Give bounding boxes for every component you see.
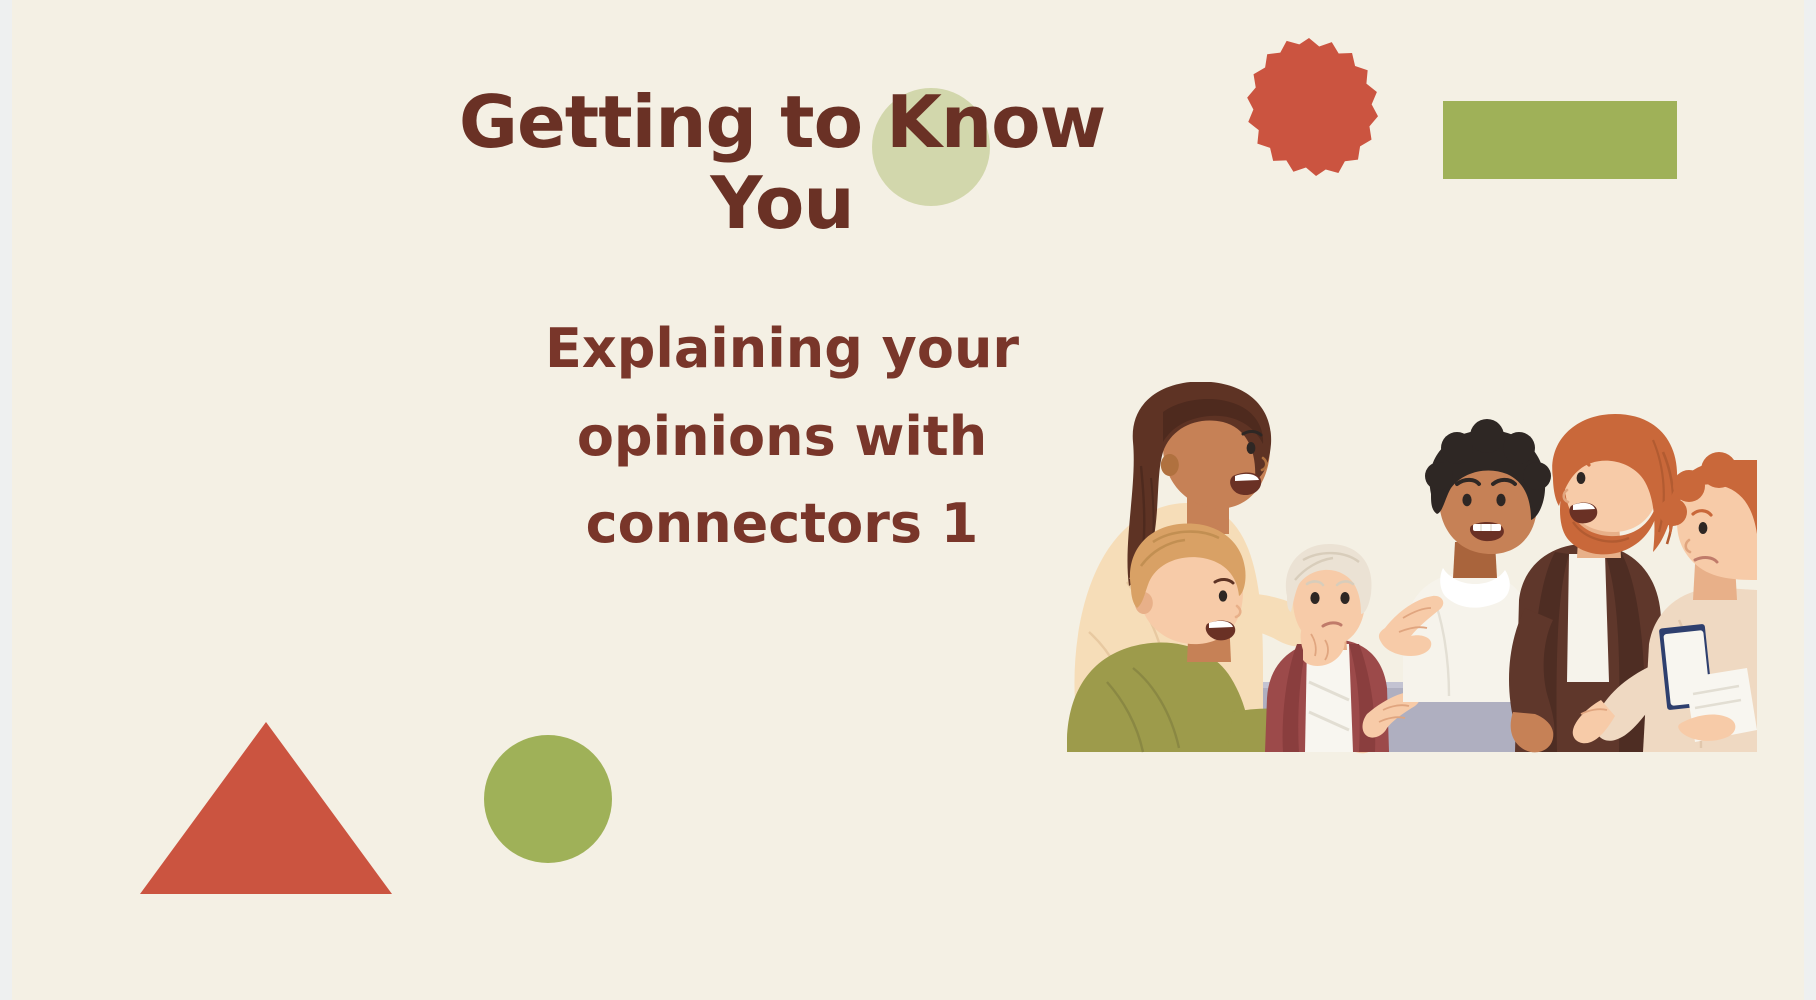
page-subtitle: Explaining your opinions with connectors… — [452, 243, 1112, 567]
discussion-group-illustration — [1067, 382, 1757, 862]
slide-text-block: Getting to Know You Explaining your opin… — [452, 82, 1112, 568]
triangle-red-icon — [140, 722, 392, 894]
starburst-icon — [1240, 38, 1378, 176]
circle-green-icon — [484, 735, 612, 863]
rectangle-green-icon — [1443, 101, 1677, 179]
slide-canvas: Getting to Know You Explaining your opin… — [12, 0, 1804, 1000]
page-title: Getting to Know You — [452, 82, 1112, 243]
